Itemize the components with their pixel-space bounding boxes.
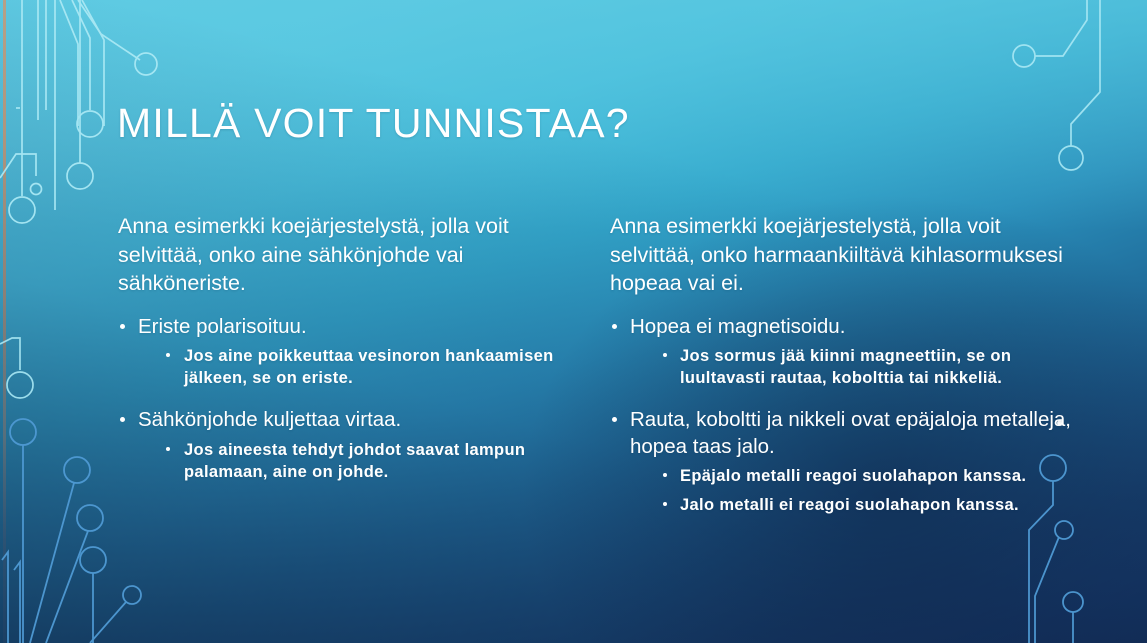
column-left-lead: Anna esimerkki koejärjestelystä, jolla v…: [118, 212, 593, 298]
sub-bullet-dot-icon: [166, 447, 170, 451]
sub-bullet-item: Jalo metalli ei reagoi suolahapon kanssa…: [630, 494, 1085, 516]
bullet-item: Rauta, koboltti ja nikkeli ovat epäjaloj…: [610, 407, 1085, 516]
column-left-bullet-list: Eriste polarisoituu. Jos aine poikkeutta…: [118, 314, 593, 483]
bullet-dot-icon: [612, 417, 617, 422]
bullet-label: Rauta, koboltti ja nikkeli ovat epäjaloj…: [630, 407, 1085, 460]
column-left: Anna esimerkki koejärjestelystä, jolla v…: [118, 212, 593, 534]
sub-bullet-dot-icon: [663, 473, 667, 477]
sub-bullet-label: Jos aineesta tehdyt johdot saavat lampun…: [184, 439, 593, 483]
bullet-label: Sähkönjohde kuljettaa virtaa.: [138, 407, 593, 434]
sub-bullet-list: Jos aine poikkeuttaa vesinoron hankaamis…: [138, 345, 593, 389]
sub-bullet-dot-icon: [166, 353, 170, 357]
sub-bullet-item: Jos sormus jää kiinni magneettiin, se on…: [630, 345, 1085, 389]
bullet-dot-icon: [612, 324, 617, 329]
bullet-item: Eriste polarisoituu. Jos aine poikkeutta…: [118, 314, 593, 390]
sub-bullet-label: Jos aine poikkeuttaa vesinoron hankaamis…: [184, 345, 593, 389]
column-right-bullet-list: Hopea ei magnetisoidu. Jos sormus jää ki…: [610, 314, 1085, 517]
column-right-lead: Anna esimerkki koejärjestelystä, jolla v…: [610, 212, 1085, 298]
sub-bullet-dot-icon: [663, 502, 667, 506]
sub-bullet-list: Epäjalo metalli reagoi suolahapon kanssa…: [630, 465, 1085, 516]
sub-bullet-list: Jos sormus jää kiinni magneettiin, se on…: [630, 345, 1085, 389]
bullet-item: Hopea ei magnetisoidu. Jos sormus jää ki…: [610, 314, 1085, 390]
content-columns: Anna esimerkki koejärjestelystä, jolla v…: [0, 212, 1147, 534]
bullet-item: Sähkönjohde kuljettaa virtaa. Jos ainees…: [118, 407, 593, 483]
sub-bullet-item: Jos aine poikkeuttaa vesinoron hankaamis…: [138, 345, 593, 389]
sub-bullet-list: Jos aineesta tehdyt johdot saavat lampun…: [138, 439, 593, 483]
page-title: Millä voit tunnistaa?: [117, 99, 630, 147]
sub-bullet-item: Epäjalo metalli reagoi suolahapon kanssa…: [630, 465, 1085, 487]
bullet-label: Hopea ei magnetisoidu.: [630, 314, 1085, 341]
bullet-label: Eriste polarisoituu.: [138, 314, 593, 341]
slide-canvas: Millä voit tunnistaa? Anna esimerkki koe…: [0, 0, 1147, 643]
sub-bullet-label: Jalo metalli ei reagoi suolahapon kanssa…: [680, 494, 1085, 516]
column-right: Anna esimerkki koejärjestelystä, jolla v…: [610, 212, 1085, 534]
bullet-dot-icon: [120, 417, 125, 422]
sub-bullet-label: Jos sormus jää kiinni magneettiin, se on…: [680, 345, 1085, 389]
sub-bullet-label: Epäjalo metalli reagoi suolahapon kanssa…: [680, 465, 1085, 487]
bullet-dot-icon: [120, 324, 125, 329]
sub-bullet-dot-icon: [663, 353, 667, 357]
sub-bullet-item: Jos aineesta tehdyt johdot saavat lampun…: [138, 439, 593, 483]
